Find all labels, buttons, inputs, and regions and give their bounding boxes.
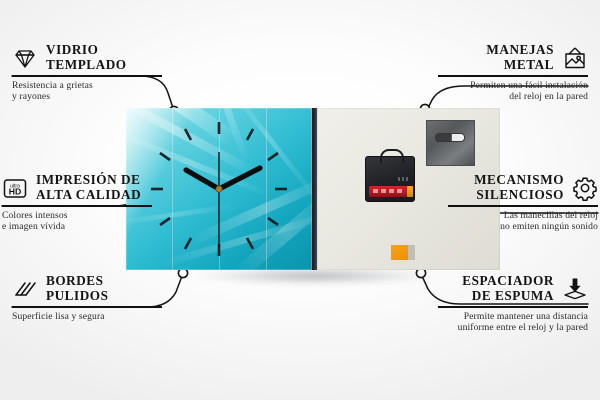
title-rule xyxy=(438,75,588,77)
ultra-hd-icon: ultra HD xyxy=(2,175,28,201)
clock-movement xyxy=(365,156,415,202)
product-drop-shadow xyxy=(150,268,480,294)
title-rule xyxy=(438,306,588,308)
feature-mecanismo-silencioso: MECANISMO SILENCIOSO Las manecillas del … xyxy=(448,173,598,233)
title-rule xyxy=(2,205,152,207)
feature-desc-espaciador: Permite mantener una distancia uniforme … xyxy=(438,311,588,334)
feature-manejas-metal: MANEJAS METAL Permiten una fácil instala… xyxy=(438,43,588,103)
movement-hanging-loop xyxy=(380,149,404,163)
battery xyxy=(369,186,411,197)
title-rule xyxy=(12,75,162,77)
feature-bordes-pulidos: BORDES PULIDOS Superficie lisa y segura xyxy=(12,274,162,322)
hour-hand xyxy=(186,170,219,189)
svg-text:HD: HD xyxy=(9,186,21,196)
movement-detail xyxy=(398,177,410,181)
hanger-plate xyxy=(426,120,475,166)
feature-title-vidrio-templado: VIDRIO TEMPLADO xyxy=(46,43,127,72)
feature-desc-vidrio-templado: Resistencia a grietas y rayones xyxy=(12,80,162,103)
title-rule xyxy=(448,205,598,207)
clock-front-panel xyxy=(126,108,312,270)
foam-spacer xyxy=(391,245,408,260)
press-down-pad-icon xyxy=(562,276,588,302)
feature-title-impresion: IMPRESIÓN DE ALTA CALIDAD xyxy=(36,173,141,202)
feature-vidrio-templado: VIDRIO TEMPLADO Resistencia a grietas y … xyxy=(12,43,162,103)
polished-edges-icon xyxy=(12,276,38,302)
diamond-icon xyxy=(12,45,38,71)
battery-terminal xyxy=(407,186,413,197)
hanger-keyhole-slot xyxy=(435,133,465,142)
title-rule xyxy=(12,306,162,308)
feature-espaciador-espuma: ESPACIADOR DE ESPUMA Permite mantener un… xyxy=(438,274,588,334)
infographic-canvas: VIDRIO TEMPLADO Resistencia a grietas y … xyxy=(0,0,600,400)
feature-desc-manejas: Permiten una fácil instalación del reloj… xyxy=(438,80,588,103)
feature-title-bordes: BORDES PULIDOS xyxy=(46,274,108,303)
product-image xyxy=(126,108,500,270)
minute-hand xyxy=(219,168,260,189)
clock-dial xyxy=(126,108,312,270)
picture-frame-hook-icon xyxy=(562,45,588,71)
feature-desc-impresion: Colores intensos e imagen vívida xyxy=(2,210,152,233)
feature-desc-bordes: Superficie lisa y segura xyxy=(12,311,162,322)
feature-title-manejas: MANEJAS METAL xyxy=(486,43,554,72)
feature-desc-mecanismo: Las manecillas del reloj no emiten ningú… xyxy=(448,210,598,233)
gear-icon xyxy=(572,175,598,201)
feature-title-mecanismo: MECANISMO SILENCIOSO xyxy=(474,173,564,202)
feature-impresion-alta-calidad: ultra HD IMPRESIÓN DE ALTA CALIDAD Color… xyxy=(2,173,152,233)
foam-spacer-shadow xyxy=(408,245,415,260)
clock-hands xyxy=(186,152,260,247)
feature-title-espaciador: ESPACIADOR DE ESPUMA xyxy=(462,274,554,303)
clock-hub xyxy=(216,186,222,192)
